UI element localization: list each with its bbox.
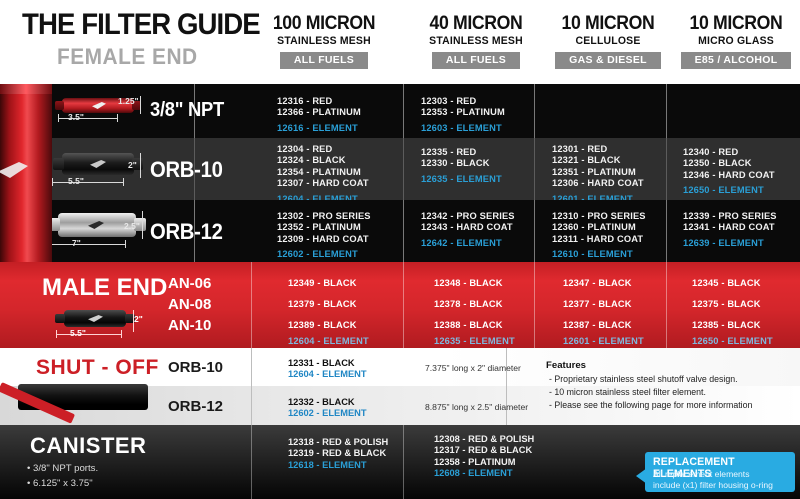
part-number: 12319 - RED & BLACK — [288, 448, 388, 459]
column-media-label: STAINLESS MESH — [248, 35, 400, 47]
row-label-an10: AN-10 — [168, 317, 211, 334]
element-an-100micron: 12604 - ELEMENT — [288, 336, 369, 346]
column-header-10-micron-micro-glass: 10 MICRON MICRO GLASS E85 / ALCOHOL — [656, 14, 800, 69]
element-number: 12635 - ELEMENT — [421, 174, 502, 185]
features-item: - Please see the following page for more… — [549, 400, 752, 410]
column-fuel-badge: ALL FUELS — [432, 52, 520, 69]
cell-an06-100micron: 12349 - BLACK — [288, 278, 357, 288]
column-header-100-micron: 100 MICRON STAINLESS MESH ALL FUELS — [244, 14, 404, 69]
element-an-40micron: 12635 - ELEMENT — [434, 336, 515, 346]
cell-an08-40micron: 12378 - BLACK — [434, 299, 503, 309]
product-photo-orb10-filter — [62, 153, 134, 175]
part-number: 12346 - HARD COAT — [683, 170, 775, 181]
cell-canister-col1: 12318 - RED & POLISH 12319 - RED & BLACK… — [288, 437, 388, 471]
element-number: 12642 - ELEMENT — [421, 238, 515, 249]
part-number: 12353 - PLATINUM — [421, 107, 505, 118]
element-number: 12608 - ELEMENT — [434, 468, 534, 479]
part-number: 12316 - RED — [277, 96, 361, 107]
cell-shutoff-orb10-element: 12604 - ELEMENT — [288, 369, 367, 379]
cell-shutoff-orb10-part: 12331 - BLACK — [288, 358, 355, 368]
product-photo-red-canister — [0, 84, 52, 279]
part-number: 12341 - HARD COAT — [683, 222, 777, 233]
part-number: 12340 - RED — [683, 147, 775, 158]
table-row-orb10: 5.5" 2" ORB-10 12304 - RED 12324 - BLACK… — [0, 138, 800, 200]
column-fuel-badge: ALL FUELS — [280, 52, 368, 69]
part-number: 12351 - PLATINUM — [552, 167, 644, 178]
cell-orb12-10micron-cellulose: 12310 - PRO SERIES 12360 - PLATINUM 1231… — [552, 211, 646, 261]
cell-orb10-40micron: 12335 - RED 12330 - BLACK 12635 - ELEMEN… — [421, 147, 502, 185]
part-number: 12317 - RED & BLACK — [434, 445, 534, 456]
part-number: 12330 - BLACK — [421, 158, 502, 169]
features-title: Features — [546, 360, 586, 371]
element-number: 12618 - ELEMENT — [288, 460, 388, 471]
shutoff-orb10-dimension: 7.375" long x 2" diameter — [425, 363, 521, 373]
dimension-diameter: 2" — [128, 160, 137, 170]
cell-npt-100micron: 12316 - RED 12366 - PLATINUM 12616 - ELE… — [277, 96, 361, 134]
row-label-npt: 3/8" NPT — [150, 99, 224, 122]
element-number: 12616 - ELEMENT — [277, 123, 361, 134]
row-label-orb12: ORB-12 — [150, 219, 223, 245]
element-number: 12602 - ELEMENT — [277, 249, 371, 260]
column-micron-label: 10 MICRON — [662, 14, 800, 34]
element-an-10micron-microglass: 12650 - ELEMENT — [692, 336, 773, 346]
part-number: 12308 - RED & POLISH — [434, 434, 534, 445]
part-number: 12324 - BLACK — [277, 155, 391, 166]
dimension-length: 7" — [72, 238, 81, 248]
element-number: 12639 - ELEMENT — [683, 238, 777, 249]
row-label-shutoff-orb10: ORB-10 — [168, 359, 223, 376]
page-header: THE FILTER GUIDE FEMALE END 100 MICRON S… — [0, 0, 800, 84]
cell-an10-10micron-cellulose: 12387 - BLACK — [563, 320, 632, 330]
cell-an08-10micron-cellulose: 12377 - BLACK — [563, 299, 632, 309]
cell-shutoff-orb12-element: 12602 - ELEMENT — [288, 408, 367, 418]
cell-an06-40micron: 12348 - BLACK — [434, 278, 503, 288]
part-number: 12343 - HARD COAT — [421, 222, 515, 233]
dimension-length: 5.5" — [70, 328, 86, 338]
cell-orb10-10micron-cellulose: 12301 - RED 12321 - BLACK 12351 - PLATIN… — [552, 144, 644, 205]
part-number: 12307 - HARD COAT — [277, 178, 391, 189]
cell-orb10-10micron-microglass: 12340 - RED 12350 - BLACK 12346 - HARD C… — [683, 147, 775, 197]
cell-orb12-40micron: 12342 - PRO SERIES 12343 - HARD COAT 126… — [421, 211, 515, 249]
replacement-elements-text: All replacement elements include (x1) fi… — [653, 469, 773, 490]
cell-an10-100micron: 12389 - BLACK — [288, 320, 357, 330]
part-number: 12354 - PLATINUM — [277, 167, 391, 178]
row-label-orb10: ORB-10 — [150, 157, 223, 183]
cell-an08-100micron: 12379 - BLACK — [288, 299, 357, 309]
part-number: 12304 - RED — [277, 144, 391, 155]
section-title-shutoff: SHUT - OFF — [36, 356, 159, 380]
section-title-male-end: MALE END — [42, 274, 167, 302]
replacement-elements-line2: include (x1) filter housing o-ring — [653, 480, 773, 491]
column-media-label: MICRO GLASS — [660, 35, 800, 47]
part-number: 12303 - RED — [421, 96, 505, 107]
part-number: 12339 - PRO SERIES — [683, 211, 777, 222]
element-number: 12650 - ELEMENT — [683, 185, 775, 196]
row-label-shutoff-orb12: ORB-12 — [168, 398, 223, 415]
cell-orb12-100micron: 12302 - PRO SERIES 12352 - PLATINUM 1230… — [277, 211, 371, 261]
part-number: 12309 - HARD COAT — [277, 234, 371, 245]
part-number: 12310 - PRO SERIES — [552, 211, 646, 222]
cell-an06-10micron-microglass: 12345 - BLACK — [692, 278, 761, 288]
part-number: 12352 - PLATINUM — [277, 222, 371, 233]
replacement-elements-badge: REPLACEMENT ELEMENTS All replacement ele… — [645, 452, 795, 492]
element-number: 12610 - ELEMENT — [552, 249, 646, 260]
part-number: 12306 - HARD COAT — [552, 178, 644, 189]
cell-an10-10micron-microglass: 12385 - BLACK — [692, 320, 761, 330]
product-photo-male-end-filter — [64, 310, 126, 327]
table-row-orb12: 7" 2.5" ORB-12 12302 - PRO SERIES 12352 … — [0, 200, 800, 262]
part-number: 12335 - RED — [421, 147, 502, 158]
table-row-npt: 3.5" 1.25" 3/8" NPT 12316 - RED 12366 - … — [0, 84, 800, 138]
dimension-diameter: 2" — [134, 314, 143, 324]
element-an-10micron-cellulose: 12601 - ELEMENT — [563, 336, 644, 346]
canister-bullet: • 6.125" x 3.75" — [27, 478, 93, 489]
canister-bullet: • 3/8" NPT ports. — [27, 463, 98, 474]
page-title: THE FILTER GUIDE — [22, 8, 260, 42]
column-fuel-badge: GAS & DIESEL — [555, 52, 661, 69]
cell-an06-10micron-cellulose: 12347 - BLACK — [563, 278, 632, 288]
cell-an10-40micron: 12388 - BLACK — [434, 320, 503, 330]
part-number: 12301 - RED — [552, 144, 644, 155]
features-item: - Proprietary stainless steel shutoff va… — [549, 374, 738, 384]
section-shutoff: SHUT - OFF ORB-10 ORB-12 12331 - BLACK 1… — [0, 348, 800, 425]
cell-npt-40micron: 12303 - RED 12353 - PLATINUM 12603 - ELE… — [421, 96, 505, 134]
section-subtitle-female-end: FEMALE END — [57, 44, 198, 70]
part-number: 12342 - PRO SERIES — [421, 211, 515, 222]
dimension-diameter: 2.5" — [124, 221, 140, 231]
part-number: 12318 - RED & POLISH — [288, 437, 388, 448]
element-number: 12603 - ELEMENT — [421, 123, 505, 134]
part-number: 12358 - PLATINUM — [434, 457, 534, 468]
part-number: 12321 - BLACK — [552, 155, 644, 166]
dimension-diameter: 1.25" — [118, 96, 139, 106]
part-number: 12360 - PLATINUM — [552, 222, 646, 233]
part-number: 12366 - PLATINUM — [277, 107, 361, 118]
row-label-an06: AN-06 — [168, 275, 211, 292]
filter-guide-page: THE FILTER GUIDE FEMALE END 100 MICRON S… — [0, 0, 800, 499]
section-male-end: MALE END 5.5" 2" AN-06 AN-08 AN-10 12349… — [0, 262, 800, 348]
row-label-an08: AN-08 — [168, 296, 211, 313]
features-item: - 10 micron stainless steel filter eleme… — [549, 387, 706, 397]
replacement-elements-line1: All replacement elements — [653, 469, 773, 480]
part-number: 12350 - BLACK — [683, 158, 775, 169]
cell-an08-10micron-microglass: 12375 - BLACK — [692, 299, 761, 309]
cell-shutoff-orb12-part: 12332 - BLACK — [288, 397, 355, 407]
column-fuel-badge: E85 / ALCOHOL — [681, 52, 792, 69]
part-number: 12302 - PRO SERIES — [277, 211, 371, 222]
part-number: 12311 - HARD COAT — [552, 234, 646, 245]
column-micron-label: 100 MICRON — [250, 14, 399, 34]
shutoff-orb12-dimension: 8.875" long x 2.5" diameter — [425, 402, 528, 412]
dimension-length: 5.5" — [68, 176, 84, 186]
dimension-length: 3.5" — [68, 112, 84, 122]
cell-canister-col3: 12308 - RED & POLISH 12317 - RED & BLACK… — [434, 434, 534, 480]
cell-orb12-10micron-microglass: 12339 - PRO SERIES 12341 - HARD COAT 126… — [683, 211, 777, 249]
section-title-canister: CANISTER — [30, 433, 146, 459]
